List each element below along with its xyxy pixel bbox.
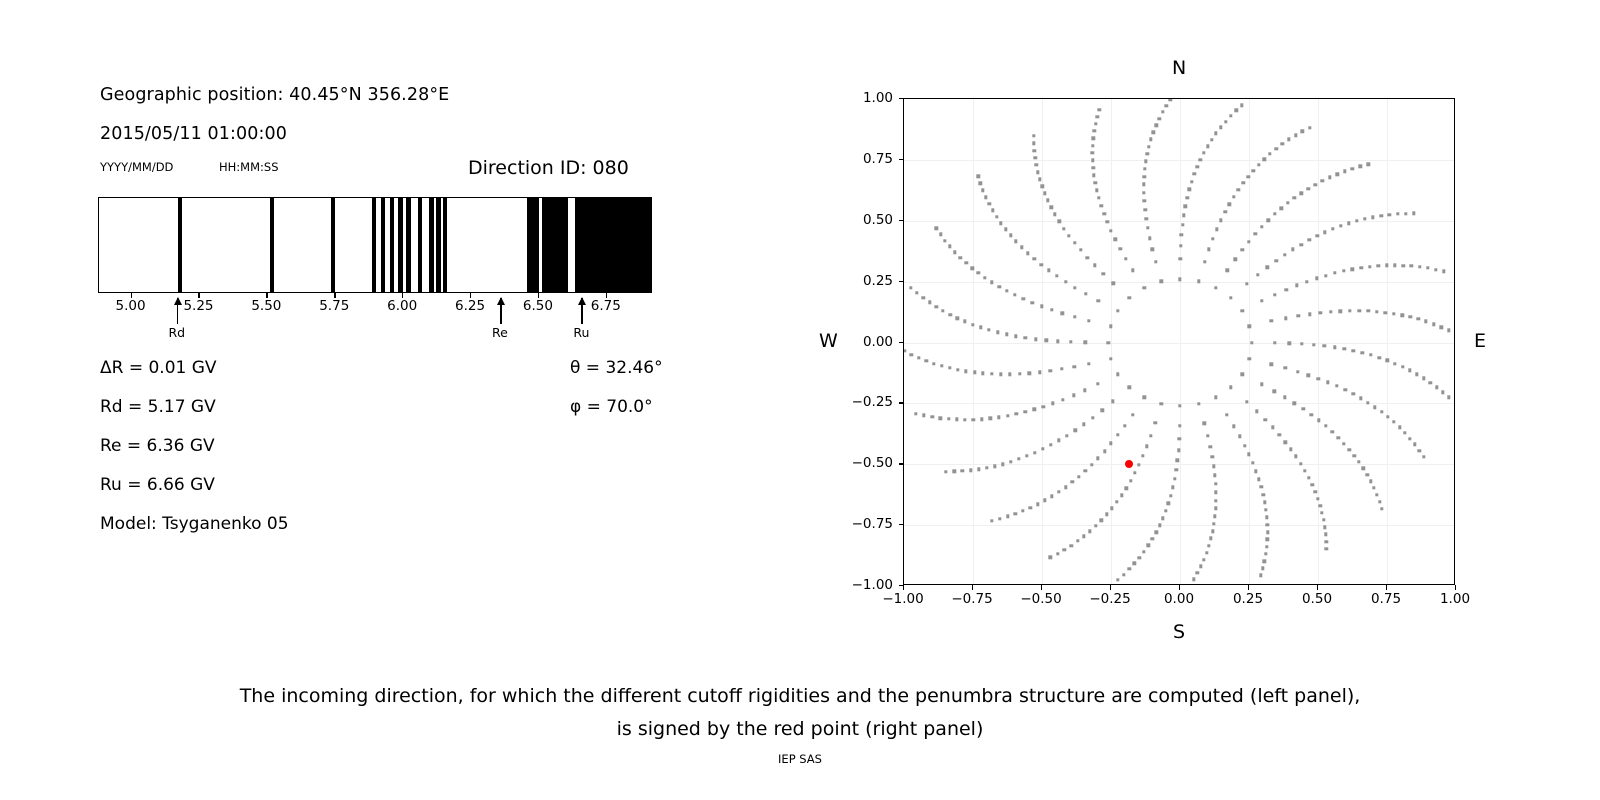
direction-point xyxy=(1441,390,1444,393)
direction-point xyxy=(1082,535,1085,538)
direction-point xyxy=(939,416,942,419)
direction-point xyxy=(1410,264,1413,267)
direction-point xyxy=(984,195,987,198)
direction-point xyxy=(944,470,947,473)
direction-point xyxy=(1280,207,1283,210)
direction-point xyxy=(1435,386,1438,389)
direction-point xyxy=(979,326,982,329)
direction-point xyxy=(983,276,986,279)
direction-point xyxy=(1266,523,1269,526)
direction-point xyxy=(1324,274,1327,277)
gridline-vertical xyxy=(1111,99,1112,584)
direction-point xyxy=(1100,204,1103,207)
compass-label-west: W xyxy=(819,330,838,352)
direction-point xyxy=(1260,299,1263,302)
direction-point xyxy=(1366,309,1369,312)
direction-point xyxy=(1178,424,1181,427)
direction-point xyxy=(1307,373,1310,376)
direction-point xyxy=(1366,401,1369,404)
direction-point xyxy=(971,323,974,326)
cutoff-marker-label-re: Re xyxy=(492,325,508,340)
direction-point xyxy=(1283,253,1286,256)
direction-point xyxy=(1214,396,1217,399)
direction-point xyxy=(921,296,924,299)
direction-point xyxy=(1288,341,1291,344)
direction-point xyxy=(1408,369,1411,372)
polar-y-tick-label: 0.50 xyxy=(837,212,893,228)
polar-y-tick xyxy=(899,524,904,525)
direction-point xyxy=(1161,517,1164,520)
direction-point xyxy=(1268,152,1271,155)
polar-y-tick xyxy=(899,98,904,99)
direction-point xyxy=(1365,473,1368,476)
direction-point xyxy=(1369,479,1372,482)
direction-point xyxy=(1026,251,1029,254)
direction-point xyxy=(1015,412,1018,415)
direction-point xyxy=(1259,485,1262,488)
polar-x-tick xyxy=(972,585,973,590)
direction-point xyxy=(915,291,918,294)
direction-point xyxy=(1111,400,1114,403)
direction-point xyxy=(1246,175,1249,178)
direction-point xyxy=(987,202,990,205)
direction-point xyxy=(1087,319,1090,322)
direction-point xyxy=(1154,124,1157,127)
direction-point xyxy=(1154,531,1157,534)
direction-point xyxy=(1110,507,1113,510)
direction-point xyxy=(1128,386,1131,389)
direction-point xyxy=(1213,474,1216,477)
cutoff-marker-arrow-ru xyxy=(581,298,583,324)
direction-point xyxy=(1056,339,1059,342)
direction-point xyxy=(1357,309,1360,312)
direction-point xyxy=(1324,540,1327,543)
direction-point xyxy=(1050,308,1053,311)
direction-point xyxy=(1093,264,1096,267)
direction-point xyxy=(1447,396,1450,399)
direction-point xyxy=(1178,277,1181,280)
direction-point xyxy=(1263,157,1266,160)
gridline-horizontal xyxy=(904,464,1454,465)
direction-point xyxy=(1413,443,1416,446)
direction-point xyxy=(1207,544,1210,547)
direction-point xyxy=(1392,312,1395,315)
direction-point xyxy=(1254,469,1257,472)
direction-point xyxy=(996,331,999,334)
direction-point xyxy=(914,412,917,415)
direction-point xyxy=(1401,365,1404,368)
polar-y-tick xyxy=(899,281,904,282)
direction-point xyxy=(1314,183,1317,186)
direction-point xyxy=(1301,130,1304,133)
direction-point xyxy=(1092,173,1095,176)
direction-point xyxy=(1094,181,1097,184)
polar-x-tick xyxy=(903,585,904,590)
polar-x-tick-label: 0.50 xyxy=(1302,591,1332,607)
direction-point xyxy=(1005,289,1008,292)
direction-point xyxy=(1339,224,1342,227)
direction-point xyxy=(1061,312,1064,315)
direction-point xyxy=(1043,192,1046,195)
direction-point xyxy=(1040,305,1043,308)
credit-label: IEP SAS xyxy=(0,752,1600,766)
direction-point xyxy=(1378,356,1381,359)
direction-point xyxy=(1193,172,1196,175)
polar-x-tick-label: 0.75 xyxy=(1371,591,1401,607)
polar-x-tick-label: 1.00 xyxy=(1440,591,1470,607)
direction-point xyxy=(980,417,983,420)
penumbra-band xyxy=(418,198,422,292)
direction-point xyxy=(1106,220,1109,223)
direction-point xyxy=(1024,336,1027,339)
direction-point xyxy=(1199,158,1202,161)
direction-point xyxy=(1188,188,1191,191)
direction-point xyxy=(1046,199,1049,202)
direction-point xyxy=(1091,416,1094,419)
direction-point xyxy=(969,469,972,472)
direction-point xyxy=(1097,299,1100,302)
direction-point xyxy=(1213,515,1216,518)
direction-point xyxy=(909,286,912,289)
direction-point xyxy=(1057,490,1060,493)
direction-point xyxy=(935,226,938,229)
direction-point xyxy=(1096,457,1099,460)
direction-point xyxy=(1116,309,1119,312)
direction-point xyxy=(997,416,1000,419)
direction-point xyxy=(1232,195,1235,198)
polar-y-tick-label: 0.25 xyxy=(837,273,893,289)
direction-point xyxy=(1214,482,1217,485)
gridline-vertical xyxy=(973,99,974,584)
direction-point xyxy=(1303,469,1306,472)
direction-point xyxy=(1229,386,1232,389)
direction-point xyxy=(1154,260,1157,263)
direction-point xyxy=(1418,449,1421,452)
direction-point xyxy=(1234,258,1237,261)
direction-point xyxy=(1219,219,1222,222)
direction-point xyxy=(1324,424,1327,427)
direction-point xyxy=(1333,271,1336,274)
polar-y-tick-label: −1.00 xyxy=(837,577,893,593)
cutoff-marker-arrow-rd xyxy=(177,298,179,324)
polar-y-tick-label: −0.50 xyxy=(837,455,893,471)
direction-point xyxy=(1050,495,1053,498)
direction-point xyxy=(1190,180,1193,183)
direction-point xyxy=(1167,502,1170,505)
parameter-line: Re = 6.36 GV xyxy=(100,436,215,456)
direction-point xyxy=(972,418,975,421)
direction-point xyxy=(1073,315,1076,318)
direction-point xyxy=(1424,320,1427,323)
selected-direction-point[interactable] xyxy=(1125,460,1133,468)
direction-point xyxy=(1033,408,1036,411)
direction-point xyxy=(979,182,982,185)
direction-point xyxy=(1065,434,1068,437)
direction-point xyxy=(1252,169,1255,172)
direction-point xyxy=(1313,490,1316,493)
direction-point xyxy=(1283,396,1286,399)
direction-point xyxy=(1403,431,1406,434)
direction-point xyxy=(1197,280,1200,283)
direction-point xyxy=(1009,234,1012,237)
direction-point xyxy=(1330,430,1333,433)
direction-point xyxy=(1029,506,1032,509)
direction-point xyxy=(1008,373,1011,376)
direction-point xyxy=(1202,558,1205,561)
direction-point xyxy=(1310,483,1313,486)
direction-point xyxy=(1323,525,1326,528)
direction-point xyxy=(1197,402,1200,405)
direction-point xyxy=(1379,214,1382,217)
direction-point xyxy=(1273,212,1276,215)
direction-point xyxy=(1146,152,1149,155)
direction-point xyxy=(1361,351,1364,354)
penumbra-band xyxy=(429,198,434,292)
compass-label-north: N xyxy=(1172,57,1186,79)
direction-point xyxy=(1396,212,1399,215)
polar-y-tick xyxy=(899,585,904,586)
direction-point xyxy=(1335,172,1338,175)
direction-point xyxy=(1319,311,1322,314)
direction-point xyxy=(999,221,1002,224)
direction-id-label: Direction ID: 080 xyxy=(468,157,629,179)
direction-point xyxy=(1226,269,1229,272)
direction-point xyxy=(1210,138,1213,141)
direction-point xyxy=(1376,264,1379,267)
direction-point xyxy=(1102,212,1105,215)
gridline-vertical xyxy=(1180,99,1181,584)
direction-point xyxy=(910,353,913,356)
direction-point xyxy=(1296,370,1299,373)
direction-point xyxy=(1087,362,1090,365)
direction-point xyxy=(1094,122,1097,125)
direction-point xyxy=(1343,388,1346,391)
direction-point xyxy=(1070,480,1073,483)
direction-point xyxy=(1050,206,1053,209)
direction-point xyxy=(1049,556,1052,559)
direction-point xyxy=(1255,409,1258,412)
direction-point xyxy=(1137,463,1140,466)
direction-point xyxy=(1408,437,1411,440)
direction-point xyxy=(1212,465,1215,468)
direction-point xyxy=(953,250,956,253)
direction-point xyxy=(1154,421,1157,424)
direction-point xyxy=(1247,240,1250,243)
direction-point xyxy=(1295,284,1298,287)
direction-point xyxy=(1073,365,1076,368)
direction-point xyxy=(1033,257,1036,260)
direction-point xyxy=(1386,359,1389,362)
direction-point xyxy=(1178,404,1181,407)
direction-point xyxy=(1021,509,1024,512)
parameter-line: Ru = 6.66 GV xyxy=(100,475,215,495)
direction-point xyxy=(1264,508,1267,511)
direction-point xyxy=(932,362,935,365)
direction-point xyxy=(1116,433,1119,436)
direction-point xyxy=(1148,236,1151,239)
direction-point xyxy=(1297,314,1300,317)
direction-point xyxy=(940,364,943,367)
direction-point xyxy=(1036,502,1039,505)
polar-x-tick-label: 0.25 xyxy=(1233,591,1263,607)
direction-point xyxy=(1196,571,1199,574)
direction-point xyxy=(964,261,967,264)
direction-point xyxy=(1014,512,1017,515)
direction-point xyxy=(1447,329,1450,332)
direction-point xyxy=(1286,201,1289,204)
gridline-vertical xyxy=(1318,99,1319,584)
direction-point xyxy=(1393,362,1396,365)
direction-point xyxy=(1091,159,1094,162)
direction-point xyxy=(1174,468,1177,471)
direction-point xyxy=(1248,357,1251,360)
direction-point xyxy=(1331,227,1334,230)
direction-point xyxy=(956,368,959,371)
direction-point xyxy=(1367,163,1370,166)
direction-point xyxy=(1353,454,1356,457)
direction-point xyxy=(1018,372,1021,375)
direction-point xyxy=(1223,210,1226,213)
direction-point xyxy=(1006,414,1009,417)
direction-point xyxy=(1143,208,1146,211)
polar-x-tick xyxy=(1179,585,1180,590)
direction-point xyxy=(1309,413,1312,416)
compass-label-east: E xyxy=(1474,330,1486,352)
direction-point xyxy=(1228,203,1231,206)
direction-point xyxy=(1084,469,1087,472)
direction-point xyxy=(930,415,933,418)
direction-point xyxy=(1418,265,1421,268)
direction-point xyxy=(1372,486,1375,489)
direction-point xyxy=(1109,324,1112,327)
direction-point xyxy=(1171,486,1174,489)
direction-point xyxy=(1257,163,1260,166)
direction-point xyxy=(1357,460,1360,463)
direction-point xyxy=(1240,104,1243,107)
direction-point xyxy=(934,305,937,308)
direction-point xyxy=(1049,369,1052,372)
direction-point xyxy=(1393,264,1396,267)
direction-point xyxy=(1308,126,1311,129)
direction-point xyxy=(941,309,944,312)
direction-point xyxy=(1307,476,1310,479)
direction-point xyxy=(1323,344,1326,347)
direction-point xyxy=(1103,449,1106,452)
direction-point xyxy=(1151,247,1154,250)
direction-point xyxy=(1281,142,1284,145)
direction-point xyxy=(1214,286,1217,289)
direction-point xyxy=(1005,333,1008,336)
angle-parameter-line: θ = 32.46° xyxy=(570,358,663,378)
direction-point xyxy=(1316,497,1319,500)
penumbra-band xyxy=(381,198,385,292)
direction-point xyxy=(1343,170,1346,173)
gridline-horizontal xyxy=(904,343,1454,344)
direction-point xyxy=(998,285,1001,288)
polar-x-tick xyxy=(1317,585,1318,590)
gridline-vertical xyxy=(1042,99,1043,584)
direction-point xyxy=(1321,179,1324,182)
direction-point xyxy=(1147,145,1150,148)
polar-x-tick-label: −0.25 xyxy=(1089,591,1130,607)
direction-point xyxy=(1294,134,1297,137)
direction-point xyxy=(1004,228,1007,231)
direction-point xyxy=(1145,217,1148,220)
penumbra-band xyxy=(398,198,403,292)
right-panel: −1.00−1.00−0.75−0.75−0.50−0.50−0.25−0.25… xyxy=(800,0,1600,680)
direction-point xyxy=(1398,426,1401,429)
penumbra-cutoff-markers: RdReRu xyxy=(98,298,652,342)
direction-point xyxy=(1254,232,1257,235)
asymptotic-directions-plot xyxy=(903,98,1455,585)
direction-point xyxy=(1091,144,1094,147)
direction-point xyxy=(1326,381,1329,384)
direction-point xyxy=(1144,160,1147,163)
direction-point xyxy=(1219,126,1222,129)
direction-point xyxy=(1072,393,1075,396)
direction-point xyxy=(1122,573,1125,576)
direction-point xyxy=(998,517,1001,520)
direction-point xyxy=(999,373,1002,376)
direction-point xyxy=(1120,494,1123,497)
direction-point xyxy=(963,418,966,421)
direction-point xyxy=(989,417,992,420)
direction-point xyxy=(1400,314,1403,317)
penumbra-band xyxy=(436,198,440,292)
direction-point xyxy=(1138,556,1141,559)
direction-point xyxy=(1040,185,1043,188)
direction-point xyxy=(1325,547,1328,550)
parameter-line: Rd = 5.17 GV xyxy=(100,397,216,417)
direction-point xyxy=(1422,377,1425,380)
direction-point xyxy=(1001,462,1004,465)
direction-point xyxy=(1173,477,1176,480)
direction-point xyxy=(1315,277,1318,280)
direction-point xyxy=(1442,270,1445,273)
direction-point xyxy=(1224,120,1227,123)
direction-point xyxy=(1013,293,1016,296)
direction-point xyxy=(1145,444,1148,447)
polar-x-tick xyxy=(1455,585,1456,590)
direction-point xyxy=(1149,434,1152,437)
direction-point xyxy=(1347,222,1350,225)
direction-point xyxy=(1426,266,1429,269)
direction-point xyxy=(1378,500,1381,503)
direction-point xyxy=(1149,138,1152,141)
direction-point xyxy=(1432,322,1435,325)
direction-point xyxy=(1291,248,1294,251)
direction-point xyxy=(1109,229,1112,232)
penumbra-band xyxy=(443,198,447,292)
direction-point xyxy=(1057,439,1060,442)
direction-point xyxy=(1042,405,1045,408)
direction-point xyxy=(1143,199,1146,202)
direction-point xyxy=(1322,518,1325,521)
direction-point xyxy=(1212,522,1215,525)
direction-point xyxy=(1270,363,1273,366)
direction-point xyxy=(953,470,956,473)
direction-point xyxy=(961,469,964,472)
direction-point xyxy=(1062,227,1065,230)
direction-point xyxy=(1131,268,1134,271)
direction-point xyxy=(1105,513,1108,516)
penumbra-band xyxy=(178,198,182,292)
polar-y-tick-label: 0.00 xyxy=(837,334,893,350)
direction-point xyxy=(1402,264,1405,267)
direction-point xyxy=(1142,286,1145,289)
time-format-hint: HH:MM:SS xyxy=(219,160,279,174)
polar-x-tick xyxy=(1110,585,1111,590)
